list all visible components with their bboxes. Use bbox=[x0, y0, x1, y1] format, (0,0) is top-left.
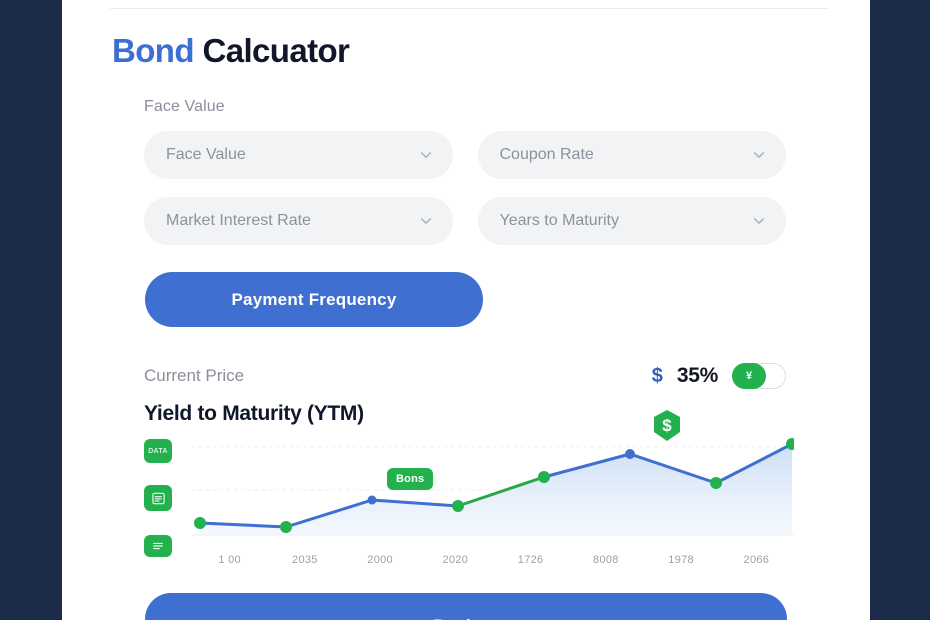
current-price-controls: $ 35% ¥ bbox=[652, 363, 786, 389]
page-title-rest: Calcuator bbox=[194, 32, 349, 69]
chart-point bbox=[280, 521, 292, 533]
app-background: Bond Calcuator Face Value Face Value Cou… bbox=[0, 0, 930, 620]
list-badge[interactable] bbox=[144, 485, 172, 511]
toggle-knob: ¥ bbox=[732, 363, 766, 389]
chevron-down-icon bbox=[419, 148, 433, 162]
chevron-down-icon bbox=[752, 148, 766, 162]
dollar-sign-icon[interactable]: $ bbox=[652, 366, 663, 386]
form-row-1: Face Value Coupon Rate bbox=[144, 131, 786, 179]
x-tick: 1726 bbox=[493, 554, 568, 574]
chevron-down-icon bbox=[419, 214, 433, 228]
face-value-label: Face Value bbox=[144, 98, 225, 116]
chart-x-axis: 1 00 2035 2000 2020 1726 8008 1978 2066 bbox=[192, 554, 794, 574]
field-coupon-rate[interactable]: Coupon Rate bbox=[478, 131, 787, 179]
list-icon bbox=[151, 491, 166, 506]
x-tick: 1 00 bbox=[192, 554, 267, 574]
form-fields: Face Value Coupon Rate Market Interest R… bbox=[144, 131, 786, 263]
data-badge-label: DATA bbox=[148, 448, 168, 455]
field-market-interest-rate[interactable]: Market Interest Rate bbox=[144, 197, 453, 245]
bottom-action-button[interactable]: Bonises bbox=[145, 593, 787, 620]
field-face-value-label: Face Value bbox=[166, 146, 419, 164]
chart-point bbox=[710, 477, 722, 489]
chart-point bbox=[538, 471, 550, 483]
svg-text:$: $ bbox=[662, 416, 672, 435]
field-years-to-maturity[interactable]: Years to Maturity bbox=[478, 197, 787, 245]
field-market-interest-rate-label: Market Interest Rate bbox=[166, 212, 419, 230]
x-tick: 8008 bbox=[568, 554, 643, 574]
form-row-2: Market Interest Rate Years to Maturity bbox=[144, 197, 786, 245]
field-face-value[interactable]: Face Value bbox=[144, 131, 453, 179]
field-years-to-maturity-label: Years to Maturity bbox=[500, 212, 753, 230]
calculator-card: Bond Calcuator Face Value Face Value Cou… bbox=[62, 0, 870, 620]
page-title: Bond Calcuator bbox=[112, 32, 349, 70]
chart-point bbox=[194, 517, 206, 529]
menu-lines-icon bbox=[151, 540, 165, 552]
data-badge[interactable]: DATA bbox=[144, 439, 172, 463]
chevron-down-icon bbox=[752, 214, 766, 228]
x-tick: 2066 bbox=[719, 554, 794, 574]
ytm-chart: DATA bbox=[144, 430, 794, 585]
page-title-accent: Bond bbox=[112, 32, 194, 69]
payment-frequency-button[interactable]: Payment Frequency bbox=[145, 272, 483, 327]
x-tick: 2035 bbox=[267, 554, 342, 574]
percent-value: 35% bbox=[677, 364, 718, 388]
current-price-label: Current Price bbox=[144, 366, 244, 386]
chart-point bbox=[452, 500, 464, 512]
top-divider bbox=[110, 8, 828, 9]
x-tick: 2000 bbox=[343, 554, 418, 574]
x-tick: 1978 bbox=[644, 554, 719, 574]
chart-side-badges: DATA bbox=[144, 435, 178, 560]
chart-point bbox=[368, 496, 377, 505]
lines-badge[interactable] bbox=[144, 535, 172, 557]
chart-title: Yield to Maturity (YTM) bbox=[144, 402, 364, 426]
chart-point-peak bbox=[625, 449, 635, 459]
chart-plot bbox=[192, 430, 794, 550]
field-coupon-rate-label: Coupon Rate bbox=[500, 146, 753, 164]
dollar-pin-marker[interactable]: $ bbox=[649, 408, 685, 450]
currency-toggle[interactable]: ¥ bbox=[732, 363, 786, 389]
bonds-tag[interactable]: Bons bbox=[387, 468, 433, 490]
current-price-row: Current Price $ 35% ¥ bbox=[144, 363, 786, 389]
x-tick: 2020 bbox=[418, 554, 493, 574]
